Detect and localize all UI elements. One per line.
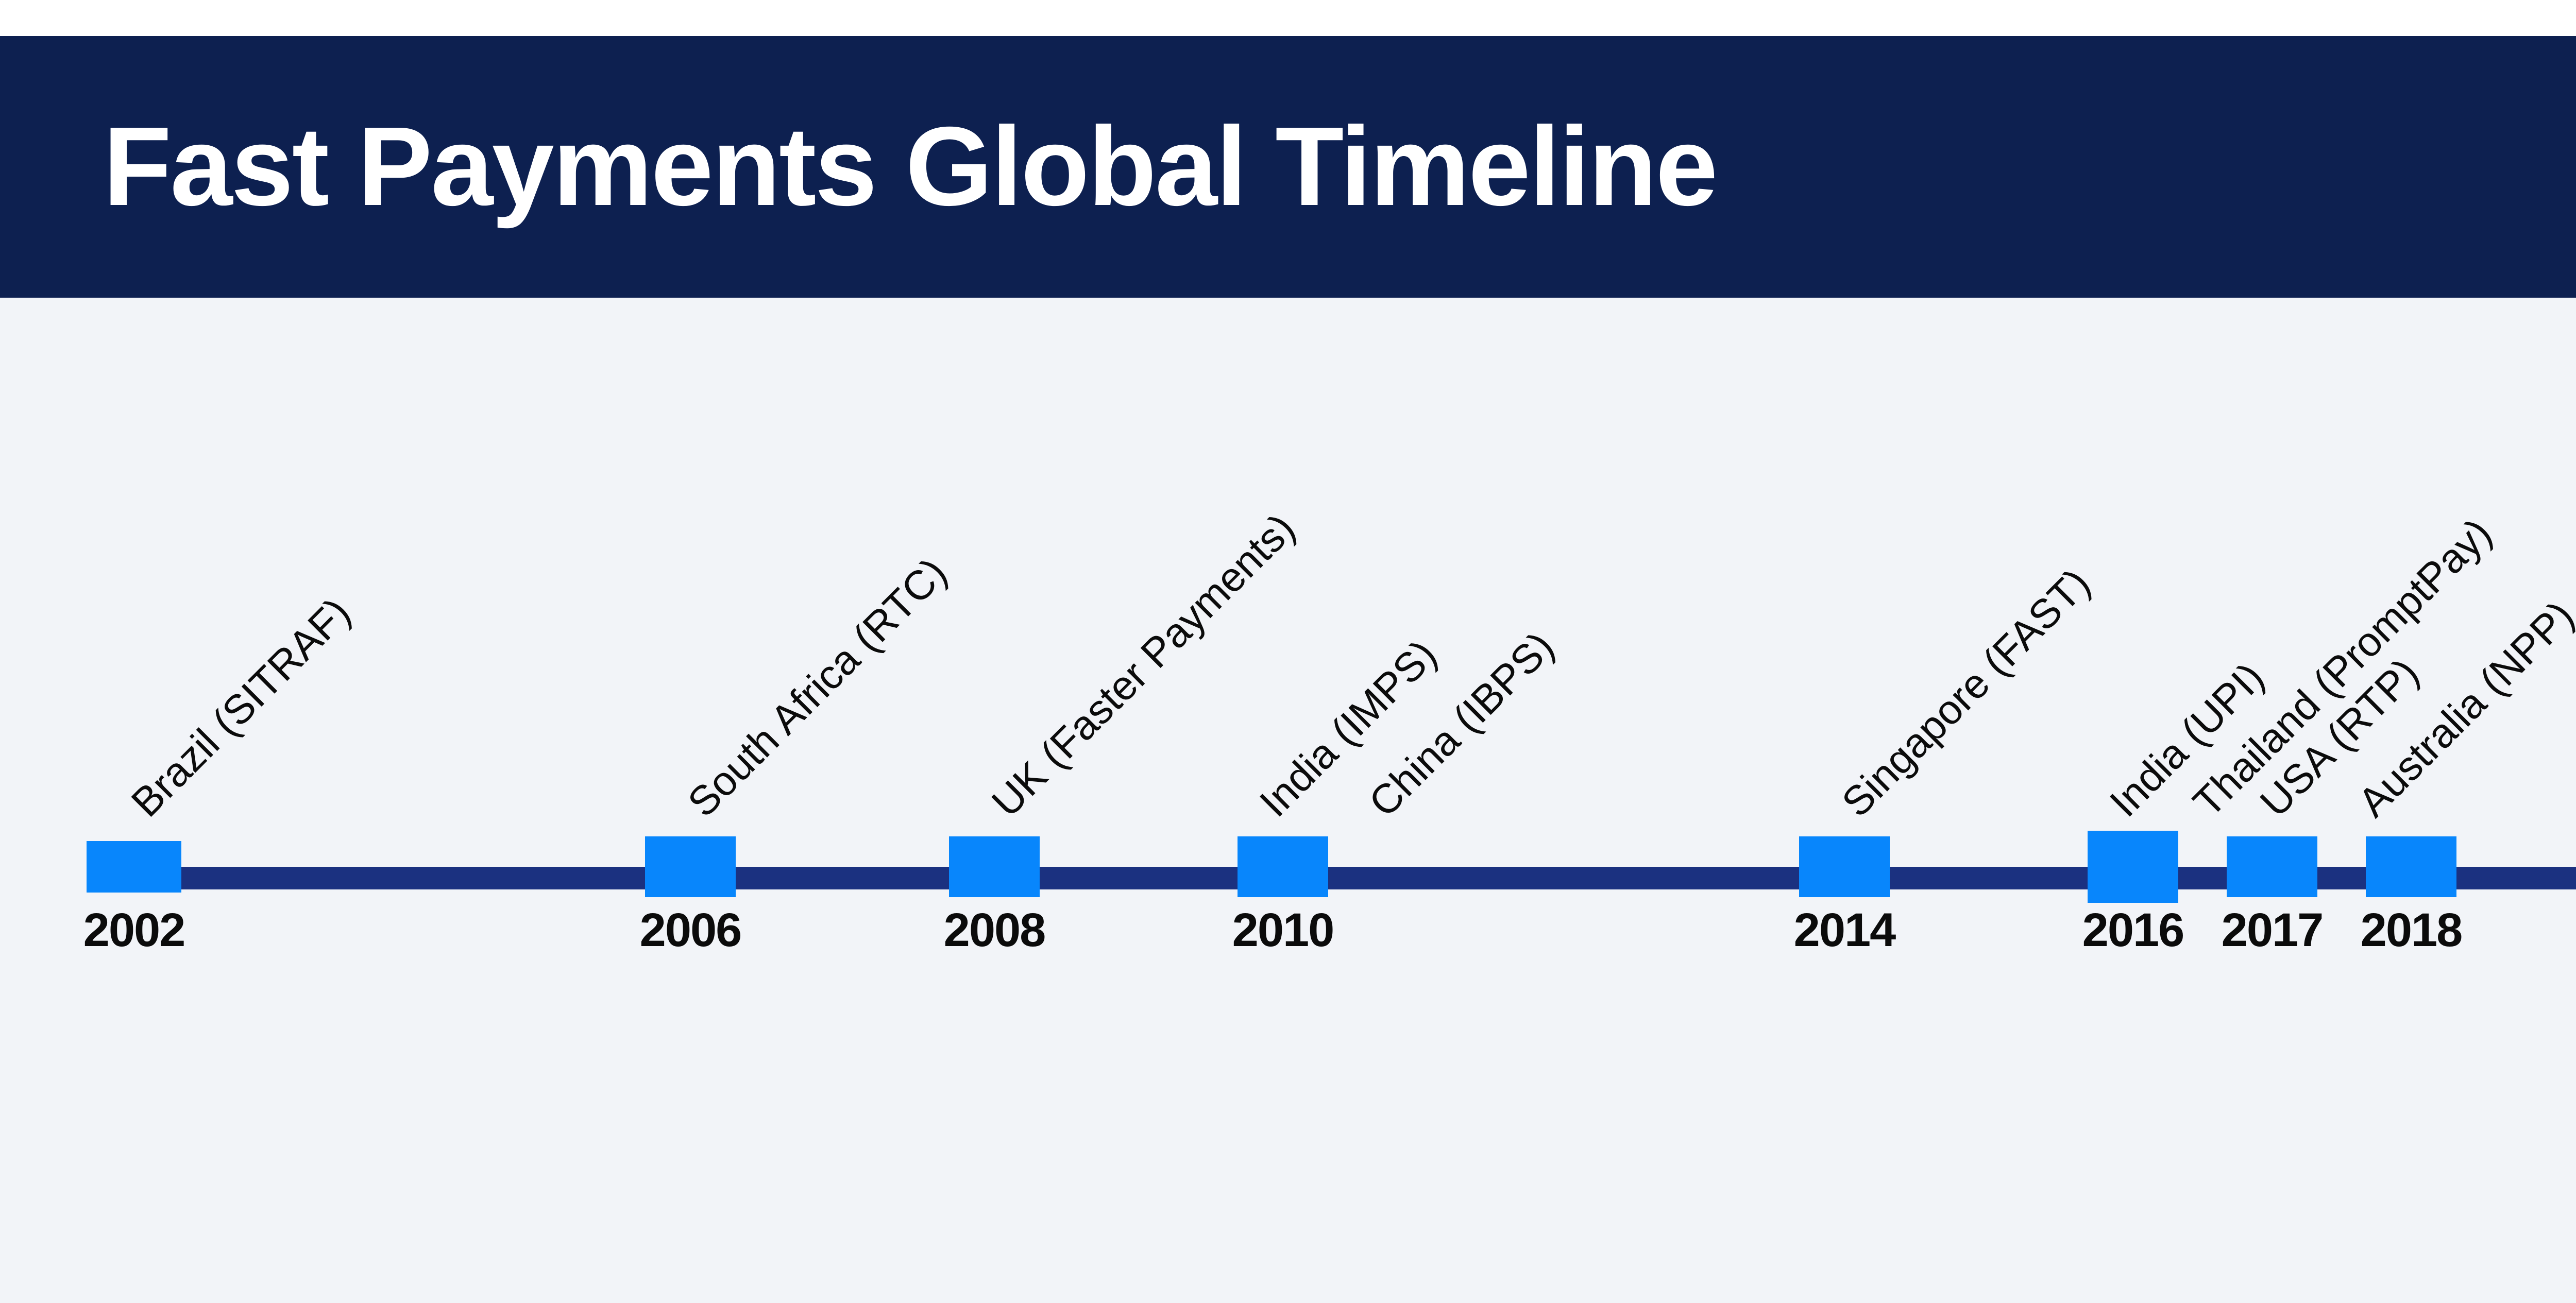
timeline-marker-2014[interactable] <box>1799 836 1890 897</box>
timeline-marker-2018[interactable] <box>2366 836 2456 897</box>
timeline-year-2010: 2010 <box>1232 906 1334 954</box>
top-white-strip <box>0 0 2576 36</box>
timeline-label-singapore-fast: Singapore (FAST) <box>1835 562 2097 824</box>
timeline-axis <box>108 867 2576 889</box>
timeline-year-2016: 2016 <box>2082 906 2184 954</box>
header-banner: Fast Payments Global Timeline <box>0 36 2576 298</box>
timeline-year-2006: 2006 <box>640 906 741 954</box>
timeline-year-2018: 2018 <box>2361 906 2462 954</box>
page-title: Fast Payments Global Timeline <box>103 36 1717 298</box>
timeline-year-2008: 2008 <box>944 906 1045 954</box>
timeline-marker-2008[interactable] <box>949 836 1040 897</box>
timeline-marker-2010[interactable] <box>1238 836 1328 897</box>
timeline-label-south-africa-rtc: South Africa (RTC) <box>681 551 954 824</box>
timeline-marker-2016[interactable] <box>2088 831 2178 903</box>
timeline-year-2017: 2017 <box>2222 906 2323 954</box>
timeline-label-brazil-sitraf: Brazil (SITRAF) <box>124 591 358 824</box>
timeline-marker-2006[interactable] <box>645 836 736 897</box>
timeline-label-uk-faster-payments: UK (Faster Payments) <box>985 507 1302 824</box>
timeline-year-2014: 2014 <box>1794 906 1895 954</box>
timeline-canvas: 2002200620082010201420162017201820202023… <box>0 298 2576 1303</box>
timeline-marker-2017[interactable] <box>2227 836 2317 897</box>
timeline-marker-2002[interactable] <box>87 841 181 893</box>
timeline-year-2002: 2002 <box>83 906 185 954</box>
